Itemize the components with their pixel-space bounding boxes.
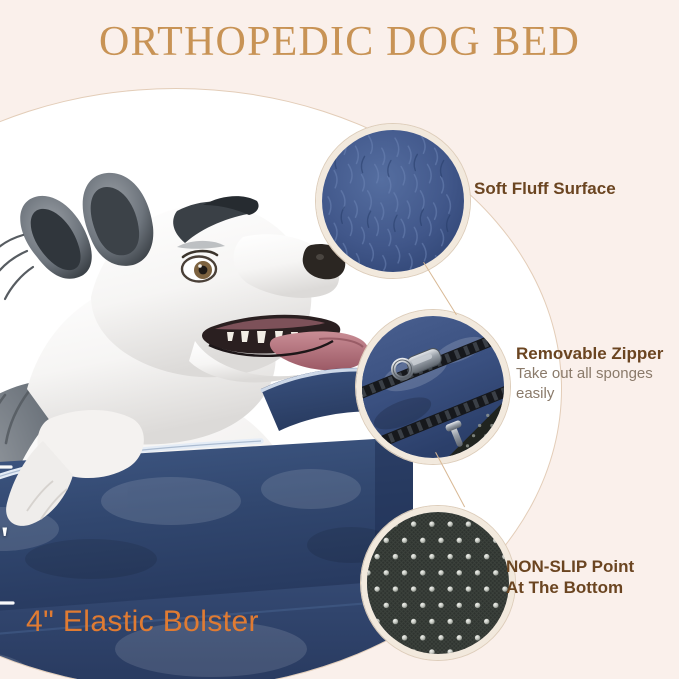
infographic-canvas: ORTHOPEDIC DOG BED — [0, 0, 679, 679]
bolster-caption: 4" Elastic Bolster — [26, 605, 259, 639]
feature-label-non-slip: NON-SLIP Point At The Bottom — [506, 556, 634, 599]
feature-title-soft-fluff: Soft Fluff Surface — [474, 178, 616, 199]
feature-label-removable-zipper: Removable Zipper Take out all sponges ea… — [516, 343, 676, 403]
feature-label-soft-fluff: Soft Fluff Surface — [474, 178, 616, 199]
feature-title-non-slip-line2: At The Bottom — [506, 577, 634, 598]
page-title: ORTHOPEDIC DOG BED — [0, 18, 679, 66]
non-slip-dotted-fabric-icon — [367, 512, 509, 654]
feature-title-non-slip-line1: NON-SLIP Point — [506, 556, 634, 577]
soft-fluff-swatch[interactable] — [316, 124, 470, 278]
feature-subtitle-removable-zipper: Take out all sponges easily — [516, 364, 676, 403]
removable-zipper-swatch[interactable] — [356, 310, 510, 464]
zipper-detail-icon — [362, 316, 504, 458]
feature-title-removable-zipper: Removable Zipper — [516, 343, 676, 364]
bolster-height-label: 4" — [0, 521, 11, 557]
blue-fluff-texture-icon — [322, 130, 464, 272]
non-slip-bottom-swatch[interactable] — [361, 506, 515, 660]
